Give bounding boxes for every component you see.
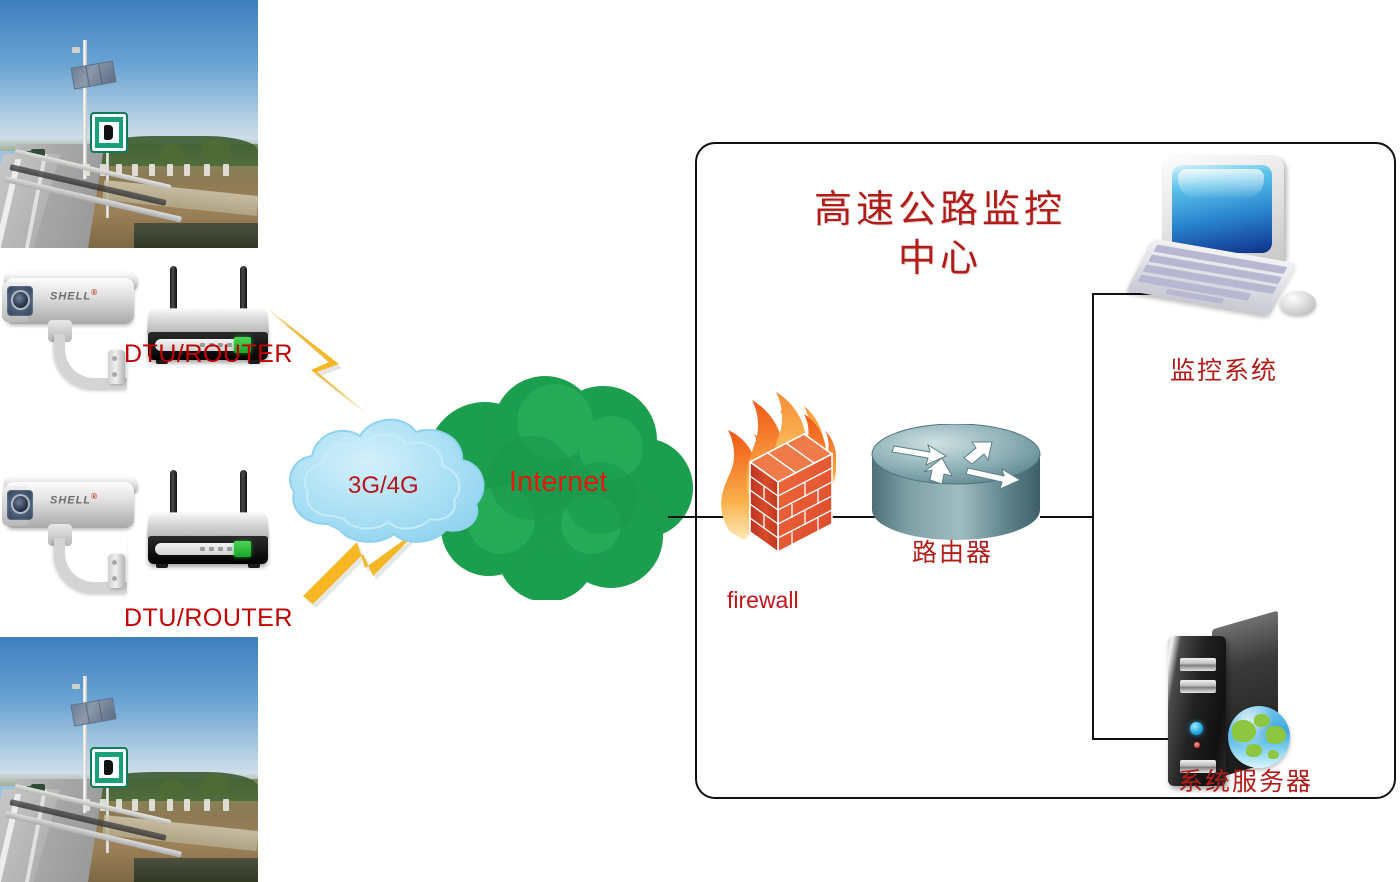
mouse	[1280, 291, 1316, 315]
camera-lens	[13, 496, 28, 512]
highway-photo-bottom	[0, 637, 258, 882]
mobile-network-label: 3G/4G	[348, 472, 419, 500]
router-top-shell	[147, 308, 270, 334]
dtu-router-upper	[148, 266, 278, 346]
dtu-router-label-lower: DTU/ROUTER	[124, 604, 293, 633]
photo-water	[134, 223, 258, 248]
server-drive-bay	[1180, 680, 1216, 693]
cctv-camera-lower: SHELL®	[2, 476, 142, 596]
cctv-camera-upper: SHELL®	[2, 272, 142, 392]
camera-wall-mount	[108, 350, 125, 384]
camera-wall-mount	[108, 554, 125, 588]
firewall-icon	[706, 372, 836, 587]
server-power-led	[1190, 722, 1203, 735]
router-status-leds	[200, 547, 232, 551]
server-activity-led	[1194, 742, 1200, 748]
monitoring-workstation	[1134, 155, 1334, 340]
monitoring-system-label: 监控系统	[1170, 351, 1278, 387]
photo-pole-camera	[72, 684, 80, 689]
router-top-shell	[147, 512, 270, 538]
photo-sky	[0, 0, 258, 144]
monitoring-center-title: 高速公路监控中心	[700, 185, 1180, 282]
photo-shrub	[201, 774, 229, 796]
photo-green-sign	[90, 112, 128, 153]
photo-water	[134, 858, 258, 882]
dtu-router-lower	[148, 470, 278, 550]
globe-icon	[1228, 706, 1290, 768]
router-front-panel	[148, 536, 268, 564]
photo-shrub	[201, 139, 229, 161]
camera-lens	[13, 292, 28, 308]
core-router-label: 路由器	[912, 533, 993, 569]
network-topology-diagram: SHELL® DTU/ROUTER SHELL®	[0, 0, 1400, 882]
router-link-led	[234, 541, 251, 557]
system-server-label: 系统服务器	[1178, 762, 1313, 798]
photo-shrub	[160, 144, 183, 164]
link-vertical-trunk	[1092, 294, 1094, 740]
dtu-router-label-upper: DTU/ROUTER	[124, 340, 293, 369]
photo-green-sign	[90, 747, 128, 788]
internet-cloud-label: Internet	[509, 466, 607, 499]
firewall-label: firewall	[727, 587, 799, 614]
router-feet	[156, 564, 260, 568]
photo-pole-camera	[72, 47, 80, 52]
photo-camera-pole	[83, 676, 88, 813]
camera-brand-label: SHELL®	[50, 288, 98, 303]
server-drive-bay	[1180, 658, 1216, 671]
title-line-1: 高速公路监控	[814, 187, 1066, 231]
highway-photo-top	[0, 0, 258, 248]
camera-brand-label: SHELL®	[50, 492, 98, 507]
photo-shrub	[160, 779, 183, 799]
link-router-to-trunk	[1040, 516, 1094, 518]
photo-camera-pole	[83, 40, 88, 179]
photo-sky	[0, 637, 258, 779]
monitor-glare	[1178, 169, 1264, 199]
core-router-icon	[868, 424, 1044, 546]
title-line-2: 中心	[898, 236, 982, 280]
